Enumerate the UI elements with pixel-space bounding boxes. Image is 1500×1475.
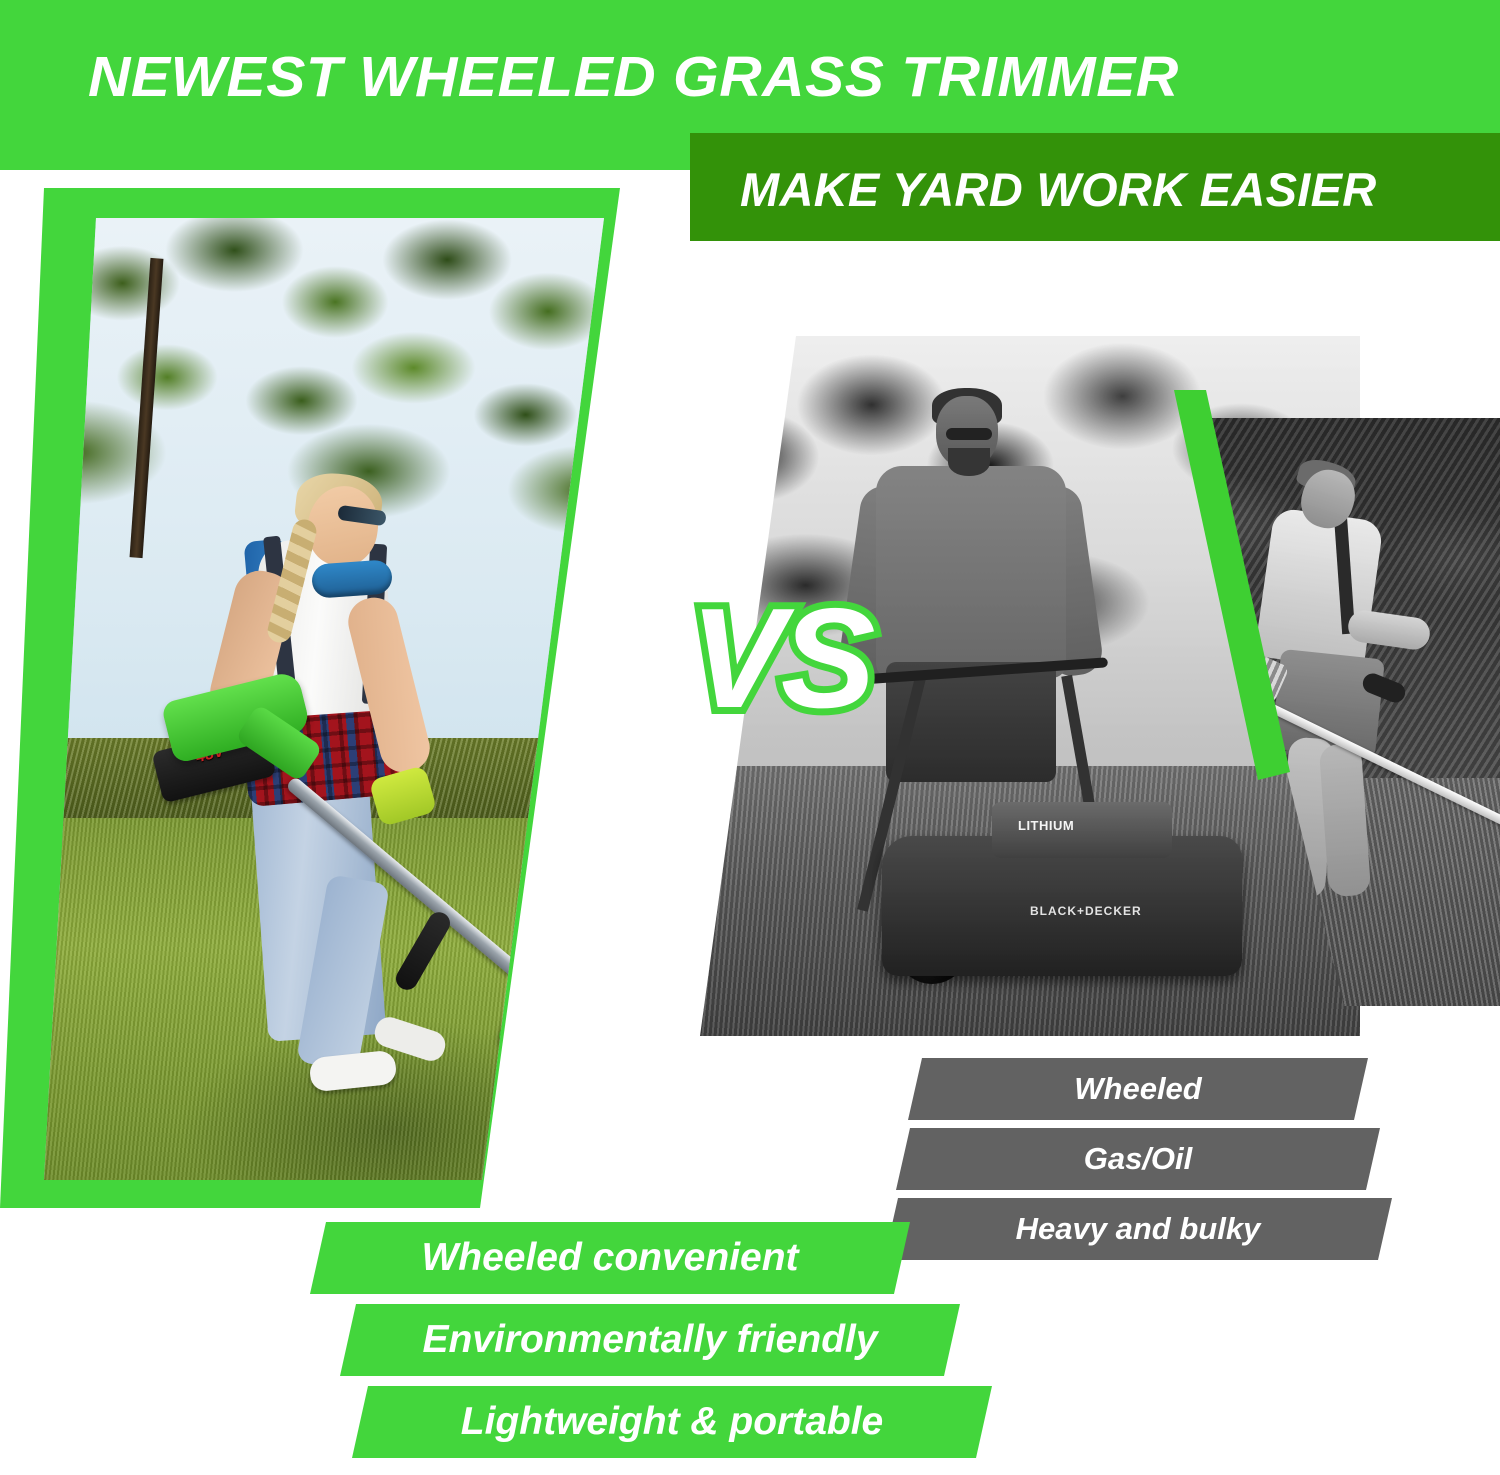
con-label: Gas/Oil: [1084, 1141, 1193, 1177]
infographic-root: NEWEST WHEELED GRASS TRIMMER MAKE YARD W…: [0, 0, 1500, 1475]
mower-brand-label: BLACK+DECKER: [1030, 904, 1142, 918]
trimmer-shadow: [564, 1066, 604, 1126]
con-label: Wheeled: [1074, 1071, 1201, 1107]
string-trimmer-person-torso: [1254, 507, 1384, 671]
con-bar-wheeled: Wheeled: [908, 1058, 1368, 1120]
hero-product-photo: 48V: [44, 218, 604, 1180]
pro-label: Wheeled convenient: [421, 1236, 798, 1280]
page-title: NEWEST WHEELED GRASS TRIMMER: [88, 44, 1179, 110]
trimmer-guard: [500, 1046, 604, 1110]
vs-badge: VS: [690, 588, 871, 730]
trimmer-head: [495, 992, 604, 1081]
con-bar-heavy-bulky: Heavy and bulky: [884, 1198, 1392, 1260]
pro-label: Lightweight & portable: [461, 1400, 883, 1444]
pro-bar-lightweight-portable: Lightweight & portable: [352, 1386, 992, 1458]
mower-battery-label: LITHIUM: [1018, 818, 1074, 833]
pro-bar-wheeled-convenient: Wheeled convenient: [310, 1222, 910, 1294]
trimmer-wheel-bracket: [592, 1015, 604, 1063]
mower-person-beard: [948, 448, 990, 476]
mower-person-torso: [876, 466, 1066, 678]
pro-label: Environmentally friendly: [422, 1318, 877, 1362]
con-bar-gas-oil: Gas/Oil: [896, 1128, 1380, 1190]
ear-defenders-icon: [311, 559, 393, 598]
page-subtitle: MAKE YARD WORK EASIER: [740, 162, 1377, 217]
pro-bar-environmentally-friendly: Environmentally friendly: [340, 1304, 960, 1376]
mower-sunglasses-icon: [946, 428, 992, 440]
con-label: Heavy and bulky: [1016, 1211, 1261, 1247]
